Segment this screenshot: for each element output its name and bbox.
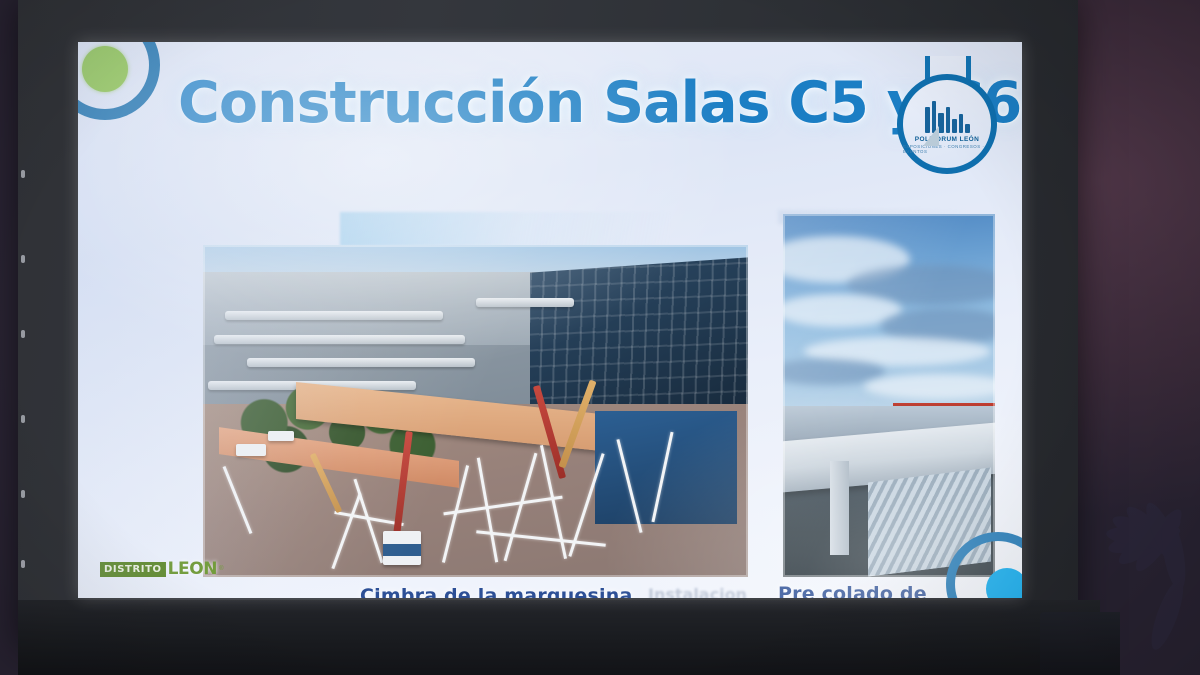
plant-leaf: [1145, 577, 1189, 653]
bezel-highlight-dot: [21, 170, 25, 178]
bezel-highlight-dot: [21, 415, 25, 423]
photo-excavation: [595, 411, 737, 524]
poliforum-leon-logo: POLIFORUM LEÓN EXPOSICIONES · CONGRESOS …: [897, 56, 997, 180]
leon-word: LEON: [168, 559, 218, 579]
caption-left: Cimbra de la marquesina: [360, 585, 632, 598]
bezel-highlight-dot: [21, 255, 25, 263]
monitor-stand: [1040, 612, 1120, 675]
bezel-highlight-dot: [21, 330, 25, 338]
photo-cimbra-marquesina[interactable]: [203, 245, 748, 577]
slide-transition-artifact: [340, 212, 670, 246]
photo-truck-3: [268, 431, 294, 441]
photo-truck: [383, 531, 421, 565]
decoration-bottom-right: [922, 512, 1022, 598]
badge-circle: POLIFORUM LEÓN EXPOSICIONES · CONGRESOS …: [897, 74, 997, 174]
distrito-word: DISTRITO: [100, 562, 166, 577]
photo-truck-2: [236, 444, 266, 456]
bezel-highlight-dot: [21, 490, 25, 498]
bezel-highlight-dot: [21, 560, 25, 568]
monitor-bezel-bottom: [18, 600, 1100, 675]
green-circle-icon: [82, 46, 128, 92]
page-title: Construcción Salas C5 y C6: [178, 70, 878, 136]
badge-label-secondary: EXPOSICIONES · CONGRESOS · EVENTOS: [903, 144, 991, 154]
distrito-leon-logo: DISTRITO LEON ®: [100, 559, 224, 579]
decoration-top-left: [78, 42, 180, 136]
badge-triangle-icon: [923, 126, 939, 146]
trademark-symbol: ®: [219, 566, 223, 572]
caption-ghost-overlap: Instalacion: [648, 585, 747, 598]
presentation-slide[interactable]: Construcción Salas C5 y C6 POLIFORUM LEÓ…: [78, 42, 1022, 598]
photo-concrete-pier: [830, 461, 849, 555]
